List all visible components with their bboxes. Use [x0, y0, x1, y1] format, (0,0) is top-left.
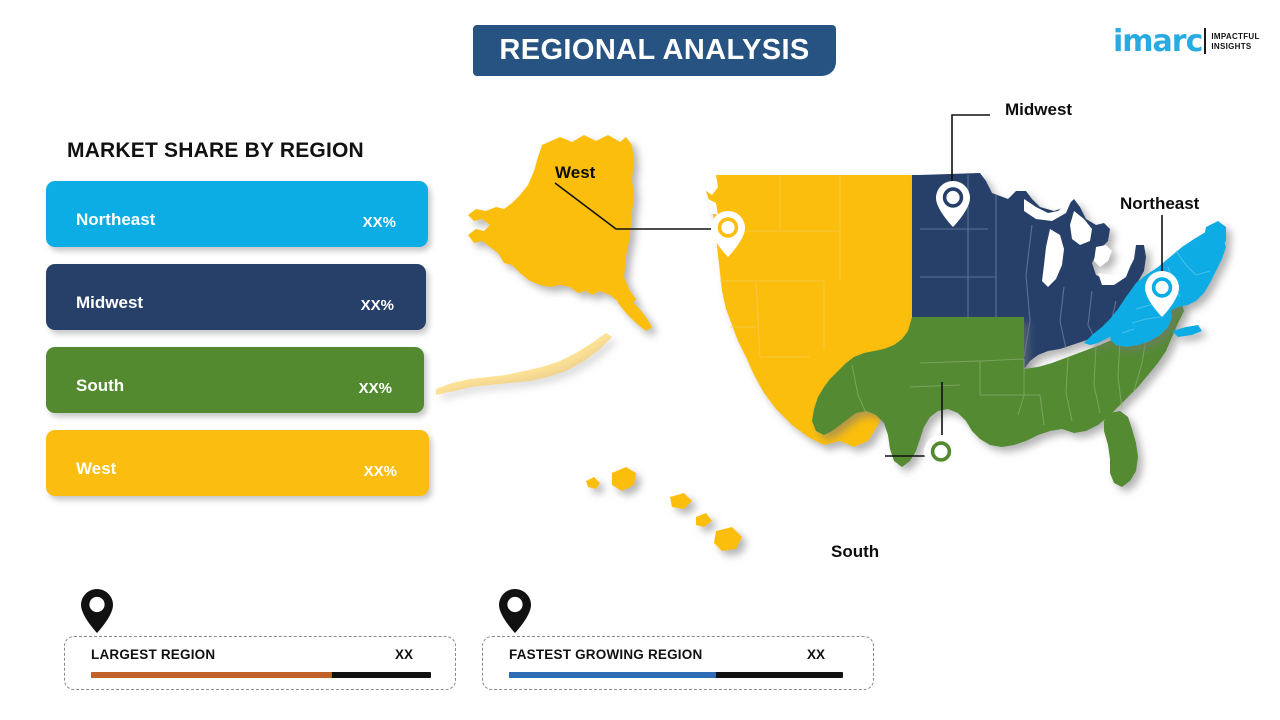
largest-region-metric: LARGEST REGION XX — [64, 636, 456, 690]
largest-region-box: LARGEST REGION XX — [64, 636, 456, 690]
largest-region-label: LARGEST REGION — [91, 647, 215, 662]
bar-value-west: XX% — [364, 463, 397, 480]
largest-region-progress-track — [91, 672, 431, 678]
bar-label-midwest: Midwest — [76, 293, 143, 313]
logo-divider — [1204, 28, 1206, 54]
callout-label-south: South — [831, 542, 879, 562]
fastest-growing-region-progress-fill — [509, 672, 716, 678]
bar-label-south: South — [76, 376, 124, 396]
map-pin-icon — [80, 588, 114, 634]
callout-label-northeast: Northeast — [1120, 194, 1199, 214]
market-share-panel-title: MARKET SHARE BY REGION — [67, 139, 364, 163]
market-share-bar-south[interactable]: South XX% — [46, 347, 424, 413]
callout-label-midwest: Midwest — [1005, 100, 1072, 120]
callout-label-west: West — [555, 163, 595, 183]
us-regional-map — [420, 95, 1280, 575]
imarc-logo: imarc IMPACTFUL INSIGHTS — [1113, 16, 1273, 56]
fastest-growing-region-value: XX — [807, 647, 825, 662]
logo-tagline-line2: INSIGHTS — [1211, 42, 1259, 52]
market-share-bar-midwest[interactable]: Midwest XX% — [46, 264, 426, 330]
page-title: REGIONAL ANALYSIS — [499, 34, 809, 67]
leader-line-midwest — [952, 115, 990, 182]
fastest-growing-region-metric: FASTEST GROWING REGION XX — [482, 636, 874, 690]
bar-label-west: West — [76, 459, 116, 479]
logo-wordmark: imarc — [1113, 28, 1202, 57]
map-pin-icon — [498, 588, 532, 634]
bar-label-northeast: Northeast — [76, 210, 155, 230]
map-region-alaska[interactable] — [436, 135, 652, 395]
bar-value-midwest: XX% — [361, 297, 394, 314]
market-share-bar-west[interactable]: West XX% — [46, 430, 429, 496]
fastest-growing-region-progress-track — [509, 672, 843, 678]
largest-region-progress-fill — [91, 672, 332, 678]
infographic-canvas: REGIONAL ANALYSIS imarc IMPACTFUL INSIGH… — [0, 0, 1280, 720]
map-region-hawaii[interactable] — [586, 467, 742, 551]
map-pin-marker-south[interactable] — [924, 435, 958, 481]
page-title-banner: REGIONAL ANALYSIS — [473, 25, 836, 76]
fastest-growing-region-label: FASTEST GROWING REGION — [509, 647, 702, 662]
bar-value-northeast: XX% — [363, 214, 396, 231]
fastest-growing-region-box: FASTEST GROWING REGION XX — [482, 636, 874, 690]
logo-tagline: IMPACTFUL INSIGHTS — [1211, 32, 1259, 52]
logo-tagline-line1: IMPACTFUL — [1211, 32, 1259, 42]
market-share-bar-list: Northeast XX% Midwest XX% South XX% West… — [46, 181, 436, 513]
bar-value-south: XX% — [359, 380, 392, 397]
market-share-bar-northeast[interactable]: Northeast XX% — [46, 181, 428, 247]
largest-region-value: XX — [395, 647, 413, 662]
